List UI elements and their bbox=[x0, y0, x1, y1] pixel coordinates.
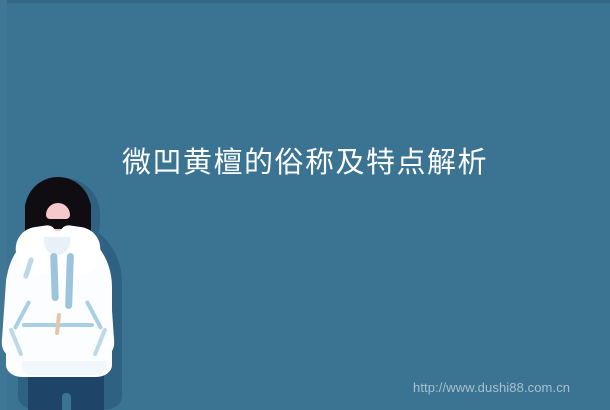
watermark-url: http://www.dushi88.com.cn bbox=[413, 380, 570, 395]
pants-leg-gap bbox=[62, 393, 71, 410]
hoodie-hem bbox=[22, 361, 106, 375]
screenshot-canvas: 微凹黄檀的俗称及特点解析 http://www.dushi88.com.cn bbox=[0, 0, 610, 410]
person-illustration bbox=[0, 175, 150, 410]
page-title: 微凹黄檀的俗称及特点解析 bbox=[0, 145, 610, 179]
top-edge-band bbox=[0, 0, 610, 3]
